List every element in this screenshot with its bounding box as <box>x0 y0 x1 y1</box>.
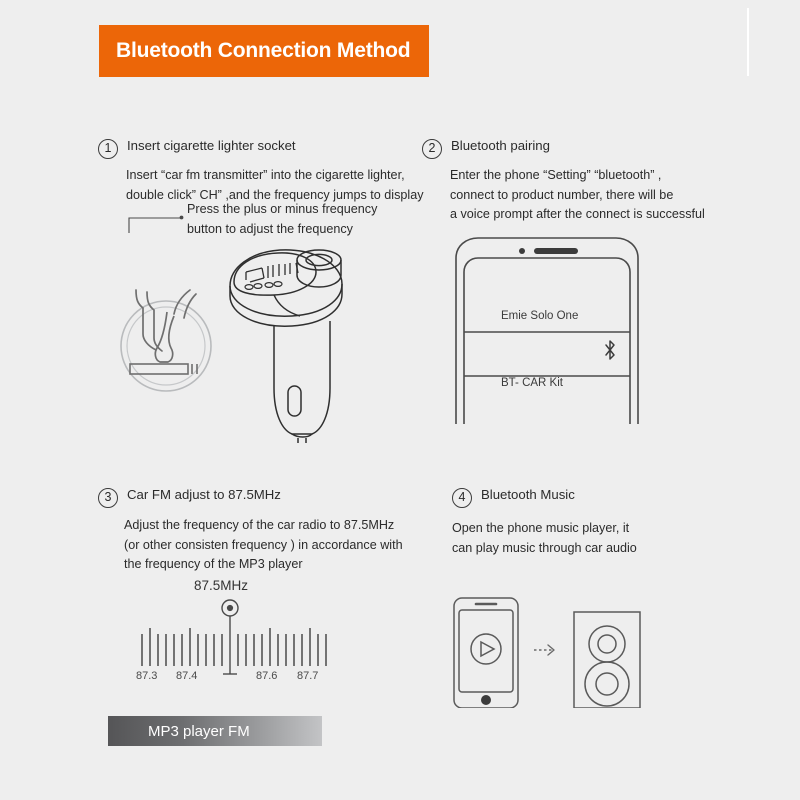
cigarette-lighter-socket-icon <box>112 288 220 394</box>
dial-tick-label-3: 87.6 <box>256 670 277 682</box>
step-3-body: Adjust the frequency of the car radio to… <box>124 516 438 575</box>
step-4: 4 Bluetooth Music Open the phone music p… <box>452 487 782 558</box>
dial-tick-label-2: 87.4 <box>176 670 197 682</box>
step-1-number: 1 <box>98 139 118 159</box>
page-title-banner: Bluetooth Connection Method <box>99 25 429 77</box>
page-title: Bluetooth Connection Method <box>99 39 410 63</box>
step-2: 2 Bluetooth pairing Enter the phone “Set… <box>422 138 762 225</box>
step-4-number: 4 <box>452 488 472 508</box>
page-root: Bluetooth Connection Method 1 Insert cig… <box>0 0 800 800</box>
callout-leader-line <box>128 200 186 234</box>
step-1: 1 Insert cigarette lighter socket Insert… <box>98 138 438 205</box>
step-3-header: 3 Car FM adjust to 87.5MHz <box>98 487 438 508</box>
step-1-header: 1 Insert cigarette lighter socket <box>98 138 438 159</box>
step-4-header: 4 Bluetooth Music <box>452 487 782 508</box>
step-2-title: Bluetooth pairing <box>451 138 550 153</box>
step-3: 3 Car FM adjust to 87.5MHz Adjust the fr… <box>98 487 438 575</box>
decorative-edge-line <box>747 8 749 76</box>
mp3-player-fm-label: MP3 player FM <box>108 723 250 740</box>
smartphone-icon <box>438 228 644 424</box>
dial-tick-label-1: 87.3 <box>136 670 157 682</box>
frequency-callout: Press the plus or minus frequency button… <box>128 200 428 242</box>
step-4-body: Open the phone music player, it can play… <box>452 519 782 558</box>
step-2-number: 2 <box>422 139 442 159</box>
frequency-dial: 87.5MHz <box>128 578 348 690</box>
step-1-title: Insert cigarette lighter socket <box>127 138 296 153</box>
phone-list-item-1[interactable]: Emie Solo One <box>501 310 578 322</box>
bluetooth-icon <box>601 338 619 362</box>
mp3-player-fm-bar: MP3 player FM <box>108 716 322 746</box>
step-2-header: 2 Bluetooth pairing <box>422 138 762 159</box>
step-3-number: 3 <box>98 488 118 508</box>
step-3-title: Car FM adjust to 87.5MHz <box>127 487 281 502</box>
car-fm-transmitter-icon <box>216 238 356 443</box>
phone-list-item-3[interactable]: BT- CAR Kit <box>501 377 563 389</box>
dial-tick-label-4: 87.7 <box>297 670 318 682</box>
bluetooth-music-illustration <box>448 596 670 708</box>
frequency-callout-text: Press the plus or minus frequency button… <box>187 200 377 239</box>
step-4-title: Bluetooth Music <box>481 487 575 502</box>
dial-frequency-label: 87.5MHz <box>194 578 248 593</box>
step-2-body: Enter the phone “Setting” “bluetooth” , … <box>450 166 762 225</box>
